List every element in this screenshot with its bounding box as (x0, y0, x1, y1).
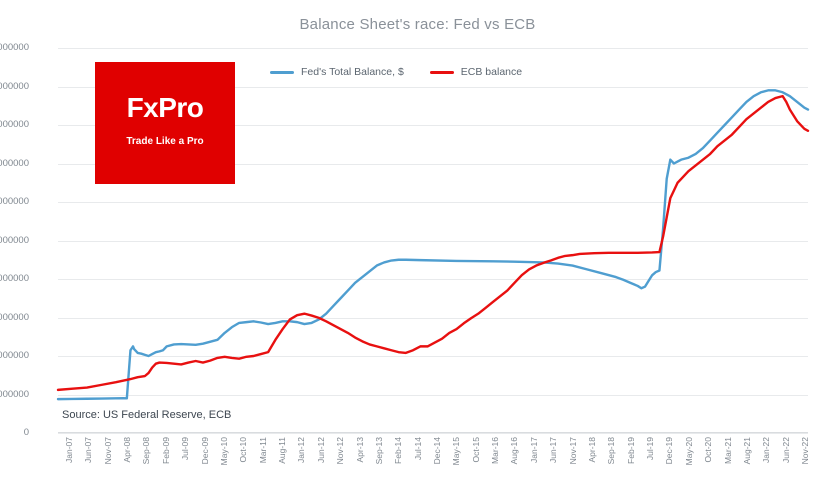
x-tick-label: Feb-14 (393, 437, 403, 464)
x-tick-label: Jan-07 (64, 437, 74, 463)
x-tick-label: Apr-08 (122, 437, 132, 463)
x-tick-label: Jun-17 (548, 437, 558, 463)
x-tick-label: Jun-22 (781, 437, 791, 463)
source-note: Source: US Federal Reserve, ECB (62, 409, 231, 421)
x-tick-label: Apr-13 (355, 437, 365, 463)
x-tick-label: Feb-19 (626, 437, 636, 464)
x-tick-label: Sep-08 (141, 437, 151, 464)
x-tick-label: Oct-15 (471, 437, 481, 463)
x-tick-label: Dec-09 (200, 437, 210, 464)
x-tick-label: Nov-22 (800, 437, 810, 464)
logo-tagline: Trade Like a Pro (95, 136, 235, 147)
x-tick-label: Jul-09 (180, 437, 190, 460)
gridline (58, 433, 808, 434)
x-tick-label: Apr-18 (587, 437, 597, 463)
x-tick-label: Mar-21 (723, 437, 733, 464)
x-tick-label: Nov-12 (335, 437, 345, 464)
x-tick-label: Mar-16 (490, 437, 500, 464)
x-tick-label: May-10 (219, 437, 229, 465)
x-tick-label: Oct-20 (703, 437, 713, 463)
x-tick-label: Sep-18 (606, 437, 616, 464)
x-tick-label: Dec-19 (664, 437, 674, 464)
x-tick-label: Sep-13 (374, 437, 384, 464)
x-tick-label: May-15 (451, 437, 461, 465)
x-tick-label: Nov-17 (568, 437, 578, 464)
logo-brand: FxPro (95, 92, 235, 124)
x-tick-label: Jan-12 (296, 437, 306, 463)
x-tick-label: Mar-11 (258, 437, 268, 463)
x-tick-label: Oct-10 (238, 437, 248, 463)
chart-title: Balance Sheet's race: Fed vs ECB (0, 16, 835, 33)
x-tick-label: Jul-14 (413, 437, 423, 460)
fxpro-logo: FxPro Trade Like a Pro (95, 62, 235, 184)
x-tick-label: Jan-17 (529, 437, 539, 463)
x-tick-label: Jun-07 (83, 437, 93, 463)
x-tick-label: Dec-14 (432, 437, 442, 464)
x-tick-label: Aug-11 (277, 437, 287, 464)
x-tick-label: Jul-19 (645, 437, 655, 460)
x-tick-label: Aug-16 (509, 437, 519, 464)
x-tick-label: Nov-07 (103, 437, 113, 464)
x-tick-label: Aug-21 (742, 437, 752, 464)
x-tick-label: Jan-22 (761, 437, 771, 463)
x-tick-label: Jun-12 (316, 437, 326, 463)
chart-container: Balance Sheet's race: Fed vs ECB Fed's T… (0, 0, 835, 490)
x-tick-label: Feb-09 (161, 437, 171, 464)
x-axis-labels: Jan-07Jun-07Nov-07Apr-08Sep-08Feb-09Jul-… (58, 437, 808, 489)
x-tick-label: May-20 (684, 437, 694, 465)
